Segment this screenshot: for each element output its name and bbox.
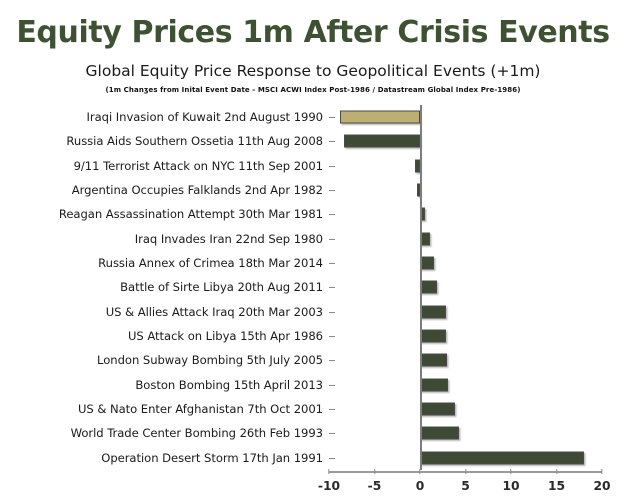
chart-area: Iraqi Invasion of Kuwait 2nd August 1990… xyxy=(22,105,602,501)
x-axis-tick-label: 15 xyxy=(548,479,565,493)
table-row: Operation Desert Storm 17th Jan 1991 xyxy=(22,446,602,470)
table-row: Iraq Invades Iran 22nd Sep 1980 xyxy=(22,226,602,250)
table-row: US Attack on Libya 15th Apr 1986 xyxy=(22,324,602,348)
category-label: Argentina Occupies Falklands 2nd Apr 198… xyxy=(22,183,329,197)
x-axis-tick-label: 20 xyxy=(593,479,610,493)
bar-track xyxy=(329,202,602,226)
x-axis-tick-label: 5 xyxy=(461,479,470,493)
chart-source-note: (1m Chanʒes from Inital Event Date - MSC… xyxy=(0,87,626,95)
x-axis-tick-mark xyxy=(601,469,602,474)
x-axis-tick-mark xyxy=(556,469,557,474)
category-label: Reagan Assassination Attempt 30th Mar 19… xyxy=(22,207,329,221)
bar xyxy=(420,256,434,269)
category-label: Boston Bombing 15th April 2013 xyxy=(22,378,329,392)
category-label: Iraq Invades Iran 22nd Sep 1980 xyxy=(22,232,329,246)
x-axis-tick-mark xyxy=(374,469,375,474)
table-row: Russia Annex of Crimea 18th Mar 2014 xyxy=(22,251,602,275)
table-row: 9/11 Terrorist Attack on NYC 11th Sep 20… xyxy=(22,153,602,177)
table-row: US & Nato Enter Afghanistan 7th Oct 2001 xyxy=(22,397,602,421)
bar-track xyxy=(329,397,602,421)
bar-track xyxy=(329,251,602,275)
category-label: US & Allies Attack Iraq 20th Mar 2003 xyxy=(22,305,329,319)
category-label: 9/11 Terrorist Attack on NYC 11th Sep 20… xyxy=(22,159,329,173)
table-row: Battle of Sirte Libya 20th Aug 2011 xyxy=(22,275,602,299)
bar xyxy=(420,403,455,416)
page-title: Equity Prices 1m After Crisis Events xyxy=(0,16,626,49)
bar xyxy=(340,110,420,123)
x-axis-tick-mark xyxy=(510,469,511,474)
table-row: London Subway Bombing 5th July 2005 xyxy=(22,348,602,372)
category-label: World Trade Center Bombing 26th Feb 1993 xyxy=(22,426,329,440)
category-label: US & Nato Enter Afghanistan 7th Oct 2001 xyxy=(22,402,329,416)
category-label: Battle of Sirte Libya 20th Aug 2011 xyxy=(22,280,329,294)
table-row: US & Allies Attack Iraq 20th Mar 2003 xyxy=(22,299,602,323)
chart-subtitle: Global Equity Price Response to Geopolit… xyxy=(0,63,626,80)
chart-page: Equity Prices 1m After Crisis Events Glo… xyxy=(0,0,626,501)
bar-track xyxy=(329,421,602,445)
table-row: Boston Bombing 15th April 2013 xyxy=(22,373,602,397)
bar xyxy=(420,281,437,294)
table-row: Reagan Assassination Attempt 30th Mar 19… xyxy=(22,202,602,226)
bar-track xyxy=(329,275,602,299)
bar-track xyxy=(329,324,602,348)
bar-track xyxy=(329,226,602,250)
bar xyxy=(420,451,584,464)
table-row: World Trade Center Bombing 26th Feb 1993 xyxy=(22,421,602,445)
x-axis-tick-mark xyxy=(328,469,329,474)
bar xyxy=(420,330,446,343)
bar-track xyxy=(329,129,602,153)
category-label: US Attack on Libya 15th Apr 1986 xyxy=(22,329,329,343)
category-label: Operation Desert Storm 17th Jan 1991 xyxy=(22,451,329,465)
x-axis-ticks: -10-505101520 xyxy=(329,473,602,501)
x-axis-tick-label: 10 xyxy=(502,479,519,493)
table-row: Argentina Occupies Falklands 2nd Apr 198… xyxy=(22,178,602,202)
bar-track xyxy=(329,105,602,129)
bar-track xyxy=(329,348,602,372)
bar-rows: Iraqi Invasion of Kuwait 2nd August 1990… xyxy=(22,105,602,470)
bar-track xyxy=(329,299,602,323)
x-axis-tick-label: -5 xyxy=(368,479,382,493)
bar-track xyxy=(329,178,602,202)
table-row: Russia Aids Southern Ossetia 11th Aug 20… xyxy=(22,129,602,153)
category-label: Russia Annex of Crimea 18th Mar 2014 xyxy=(22,256,329,270)
bar xyxy=(420,354,447,367)
x-axis-tick-label: -10 xyxy=(318,479,340,493)
bar-track xyxy=(329,373,602,397)
category-label: Iraqi Invasion of Kuwait 2nd August 1990 xyxy=(22,110,329,124)
x-axis-tick-label: 0 xyxy=(416,479,425,493)
x-axis-tick-mark xyxy=(465,469,466,474)
bar-track xyxy=(329,446,602,470)
bar xyxy=(420,378,448,391)
table-row: Iraqi Invasion of Kuwait 2nd August 1990 xyxy=(22,105,602,129)
bar xyxy=(420,427,459,440)
plot-region: Iraqi Invasion of Kuwait 2nd August 1990… xyxy=(22,105,602,501)
bar-track xyxy=(329,153,602,177)
bar xyxy=(420,305,446,318)
zero-axis-line xyxy=(420,105,422,470)
category-label: Russia Aids Southern Ossetia 11th Aug 20… xyxy=(22,134,329,148)
bar xyxy=(344,135,420,148)
category-label: London Subway Bombing 5th July 2005 xyxy=(22,353,329,367)
x-axis-tick-mark xyxy=(419,469,420,474)
